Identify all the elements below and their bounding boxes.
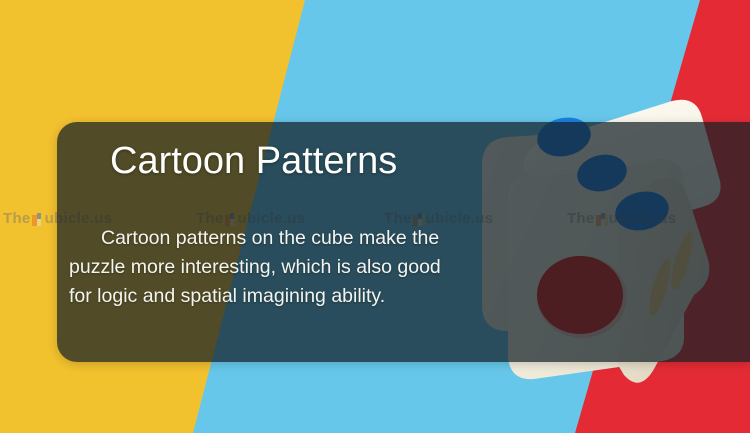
banner-stage: The ubicle.us The ubicle.us The ubicle.u… bbox=[0, 0, 750, 433]
text-overlay-content: Cartoon Patterns Cartoon patterns on the… bbox=[57, 122, 455, 362]
page-title: Cartoon Patterns bbox=[110, 142, 397, 180]
body-paragraph: Cartoon patterns on the cube make the pu… bbox=[69, 224, 445, 311]
text-overlay-panel: Cartoon Patterns Cartoon patterns on the… bbox=[57, 122, 750, 362]
